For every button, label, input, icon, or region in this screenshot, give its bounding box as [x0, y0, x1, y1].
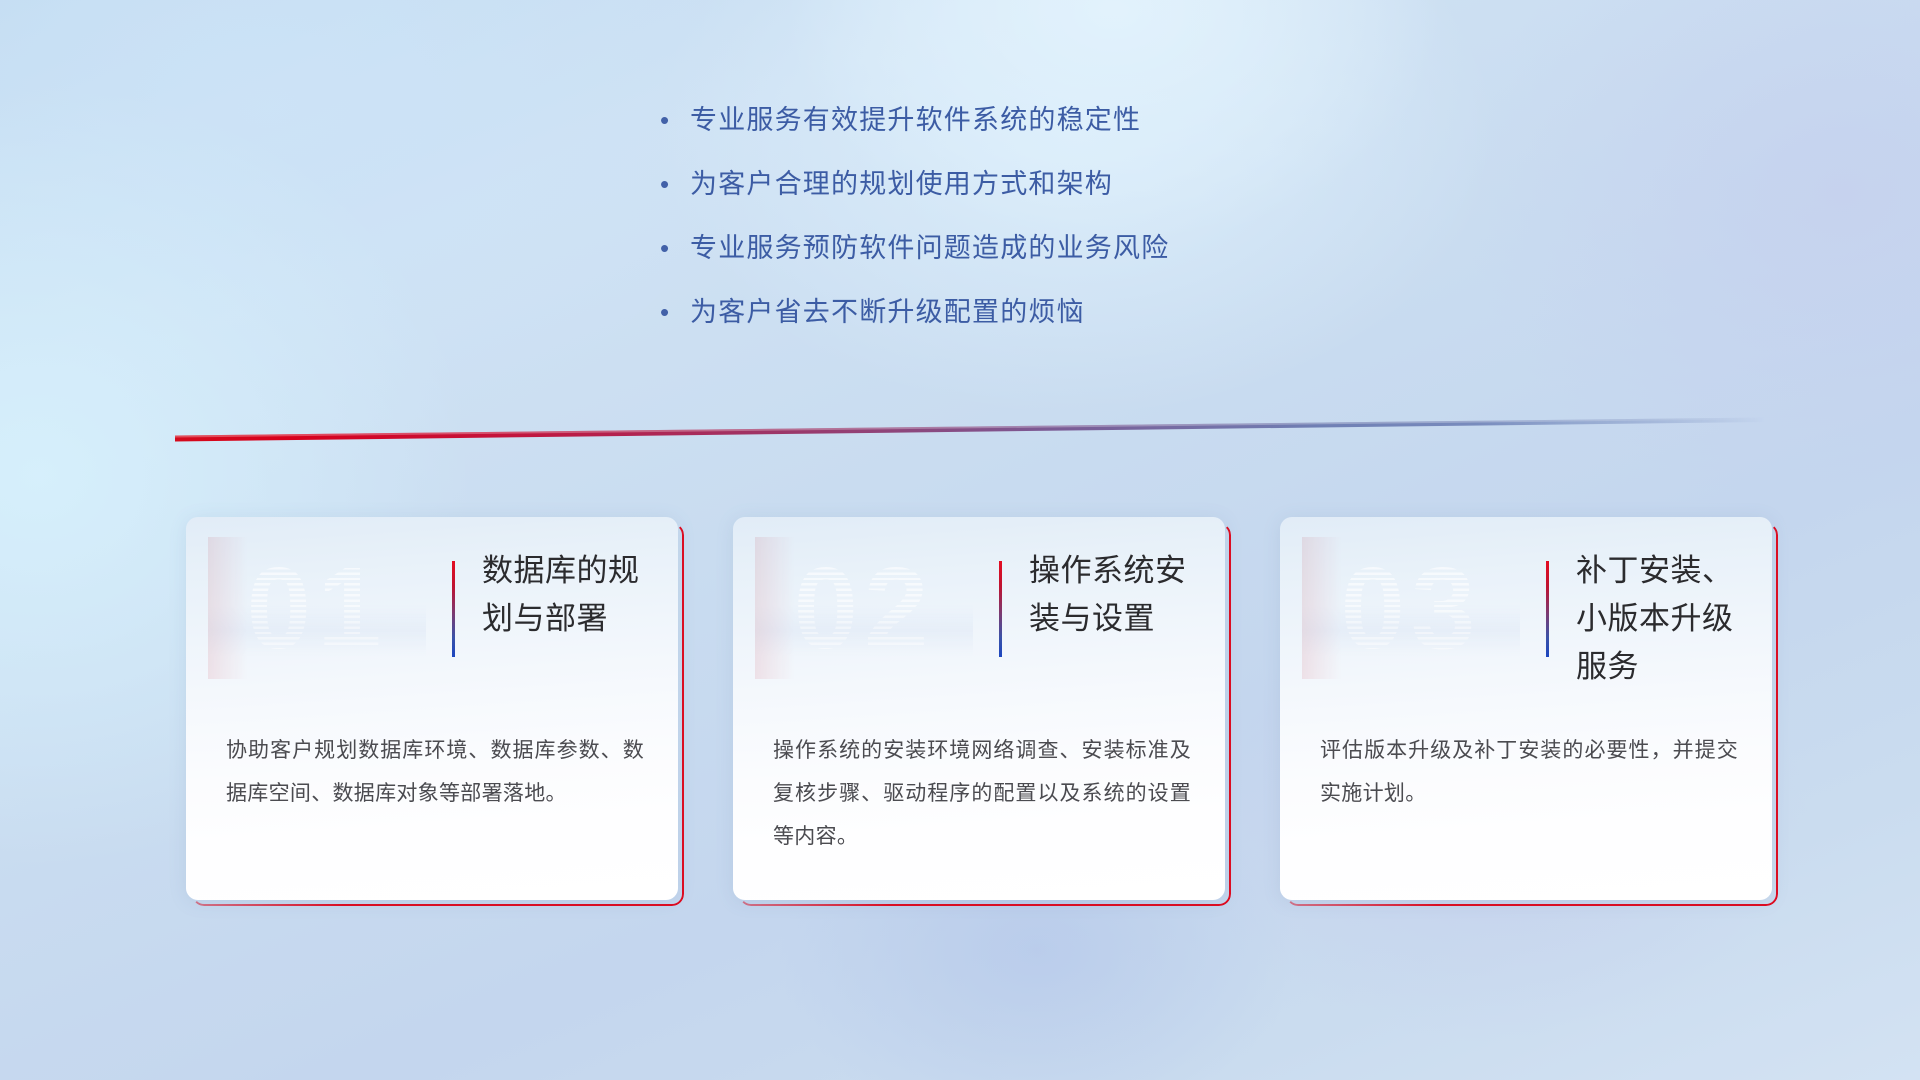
feature-card[interactable]: 03 补丁安装、小版本升级服务 评估版本升级及补丁安装的必要性，并提交实施计划。 — [1280, 517, 1772, 900]
card-number-watermark: 03 — [1302, 537, 1520, 679]
card-title-rule — [1546, 561, 1549, 657]
benefits-bullet-list: • 专业服务有效提升软件系统的稳定性 • 为客户合理的规划使用方式和架构 • 专… — [660, 100, 1480, 356]
feature-card[interactable]: 01 数据库的规划与部署 协助客户规划数据库环境、数据库参数、数据库空间、数据库… — [186, 517, 678, 900]
list-item: • 专业服务预防软件问题造成的业务风险 — [660, 228, 1480, 292]
card-header: 02 操作系统安装与设置 — [733, 517, 1225, 697]
card-body-text: 评估版本升级及补丁安装的必要性，并提交实施计划。 — [1320, 729, 1738, 815]
card-body-text: 操作系统的安装环境网络调查、安装标准及复核步骤、驱动程序的配置以及系统的设置等内… — [773, 729, 1191, 858]
bullet-marker-icon: • — [660, 228, 690, 268]
feature-card-row: 01 数据库的规划与部署 协助客户规划数据库环境、数据库参数、数据库空间、数据库… — [186, 517, 1774, 907]
card-title: 操作系统安装与设置 — [1029, 547, 1209, 643]
bullet-marker-icon: • — [660, 292, 690, 332]
card-title: 补丁安装、小版本升级服务 — [1576, 547, 1756, 691]
card-number-watermark: 02 — [755, 537, 973, 679]
card-panel: 03 补丁安装、小版本升级服务 评估版本升级及补丁安装的必要性，并提交实施计划。 — [1280, 517, 1772, 900]
bullet-marker-icon: • — [660, 164, 690, 204]
list-item: • 专业服务有效提升软件系统的稳定性 — [660, 100, 1480, 164]
bullet-text: 专业服务有效提升软件系统的稳定性 — [690, 100, 1141, 140]
card-title-rule — [999, 561, 1002, 657]
card-number-watermark: 01 — [208, 537, 426, 679]
bullet-text: 专业服务预防软件问题造成的业务风险 — [690, 228, 1169, 268]
bullet-text: 为客户合理的规划使用方式和架构 — [690, 164, 1113, 204]
list-item: • 为客户合理的规划使用方式和架构 — [660, 164, 1480, 228]
bullet-text: 为客户省去不断升级配置的烦恼 — [690, 292, 1085, 332]
card-title: 数据库的规划与部署 — [482, 547, 662, 643]
card-title-rule — [452, 561, 455, 657]
card-panel: 02 操作系统安装与设置 操作系统的安装环境网络调查、安装标准及复核步骤、驱动程… — [733, 517, 1225, 900]
card-panel: 01 数据库的规划与部署 协助客户规划数据库环境、数据库参数、数据库空间、数据库… — [186, 517, 678, 900]
bullet-marker-icon: • — [660, 100, 690, 140]
card-body-text: 协助客户规划数据库环境、数据库参数、数据库空间、数据库对象等部署落地。 — [226, 729, 644, 815]
section-divider — [175, 408, 1765, 444]
card-header: 03 补丁安装、小版本升级服务 — [1280, 517, 1772, 697]
feature-card[interactable]: 02 操作系统安装与设置 操作系统的安装环境网络调查、安装标准及复核步骤、驱动程… — [733, 517, 1225, 900]
list-item: • 为客户省去不断升级配置的烦恼 — [660, 292, 1480, 356]
slide-canvas: • 专业服务有效提升软件系统的稳定性 • 为客户合理的规划使用方式和架构 • 专… — [0, 0, 1920, 1080]
card-header: 01 数据库的规划与部署 — [186, 517, 678, 697]
